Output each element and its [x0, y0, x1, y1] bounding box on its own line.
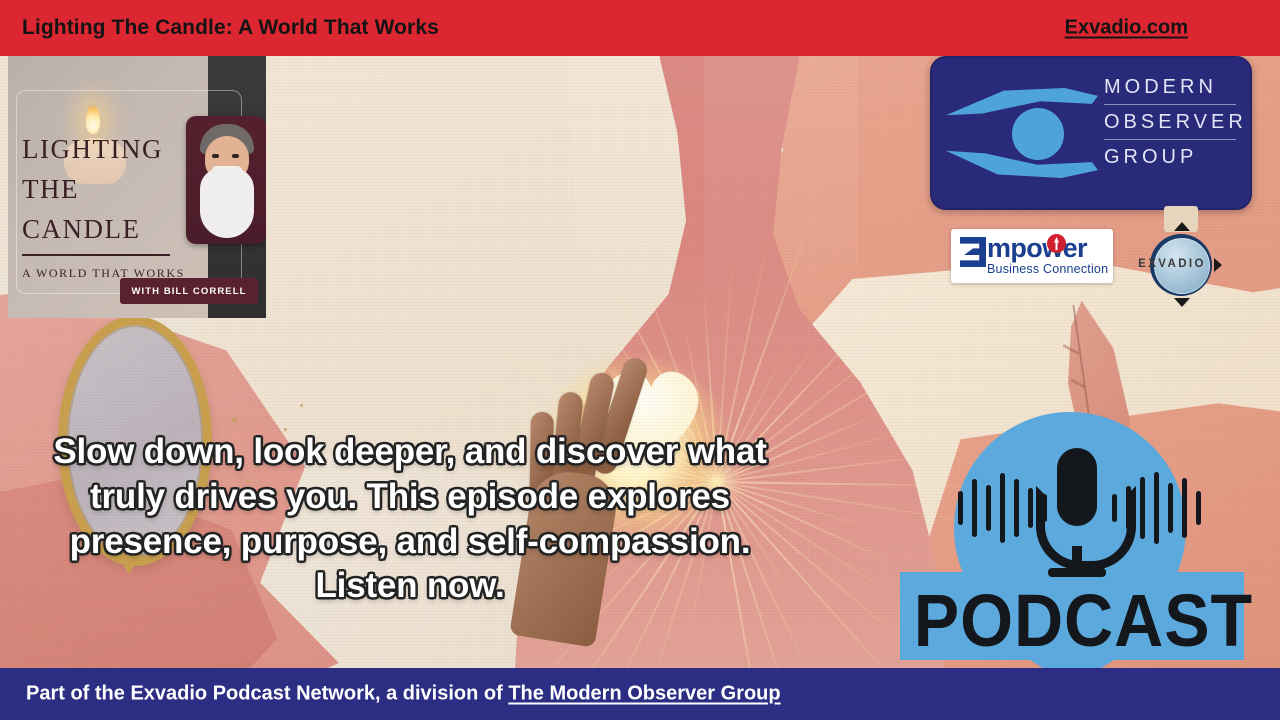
waveform-bar — [1168, 483, 1173, 533]
waveform-bar — [1182, 478, 1187, 538]
triangle-down-icon — [1174, 298, 1190, 307]
waveform-bar — [1140, 477, 1145, 539]
exvadio-site-link[interactable]: Exvadio.com — [1065, 17, 1188, 40]
podcast-badge[interactable]: PODCAST — [900, 412, 1244, 674]
podcast-episode-graphic: Lighting The Candle: A World That Works … — [0, 0, 1280, 720]
up-arrow-icon — [1047, 234, 1066, 253]
waveform-bar — [986, 485, 991, 531]
waveform-bar — [958, 491, 963, 525]
podcast-badge-label: PODCAST — [914, 578, 1230, 663]
mog-word-modern: MODERN — [1104, 70, 1236, 104]
cover-title-line-3: CANDLE — [22, 214, 141, 245]
waveform-bar — [1126, 486, 1131, 530]
waveform-bar — [1196, 491, 1201, 525]
podcast-cover-art[interactable]: LIGHTING THE CANDLE A WORLD THAT WORKS W… — [8, 56, 266, 318]
waveform-bar — [972, 479, 977, 537]
waveform-bar — [1042, 494, 1047, 522]
waveform-bar — [1112, 494, 1117, 522]
triangle-up-icon — [1174, 222, 1190, 231]
empower-wordmark: mpower — [987, 235, 1087, 262]
empower-tagline: Business Connection — [987, 262, 1108, 276]
empower-business-connection-logo[interactable]: mpower Business Connection — [951, 229, 1113, 283]
cover-title-line-1: LIGHTING — [22, 134, 163, 165]
footer-bar: Part of the Exvadio Podcast Network, a d… — [0, 668, 1280, 720]
waveform-bar — [1154, 472, 1159, 544]
eye-icon — [946, 88, 1098, 180]
waveform-bar — [1014, 479, 1019, 537]
modern-observer-group-link[interactable]: The Modern Observer Group — [508, 683, 780, 705]
exvadio-wordmark: EXVADIO — [1114, 258, 1230, 270]
exvadio-dial-logo[interactable]: EXVADIO — [1142, 222, 1222, 308]
mog-wordmark: MODERN OBSERVER GROUP — [1104, 70, 1236, 174]
episode-caption: Slow down, look deeper, and discover wha… — [40, 430, 780, 609]
mog-word-observer: OBSERVER — [1104, 104, 1236, 139]
modern-observer-group-logo[interactable]: MODERN OBSERVER GROUP — [930, 56, 1252, 210]
host-portrait-icon — [186, 116, 266, 244]
cover-title-line-2: THE — [22, 174, 79, 205]
mog-word-group: GROUP — [1104, 139, 1236, 174]
footer-prefix: Part of the Exvadio Podcast Network, a d… — [26, 683, 508, 705]
empower-e-letter-icon — [960, 237, 986, 267]
waveform-bar — [1028, 488, 1033, 528]
cover-byline: WITH BILL CORRELL — [120, 278, 258, 304]
footer-text: Part of the Exvadio Podcast Network, a d… — [26, 683, 781, 706]
cover-divider — [22, 254, 170, 256]
waveform-bar — [1000, 473, 1005, 543]
page-title: Lighting The Candle: A World That Works — [22, 16, 439, 40]
header-bar: Lighting The Candle: A World That Works … — [0, 0, 1280, 56]
